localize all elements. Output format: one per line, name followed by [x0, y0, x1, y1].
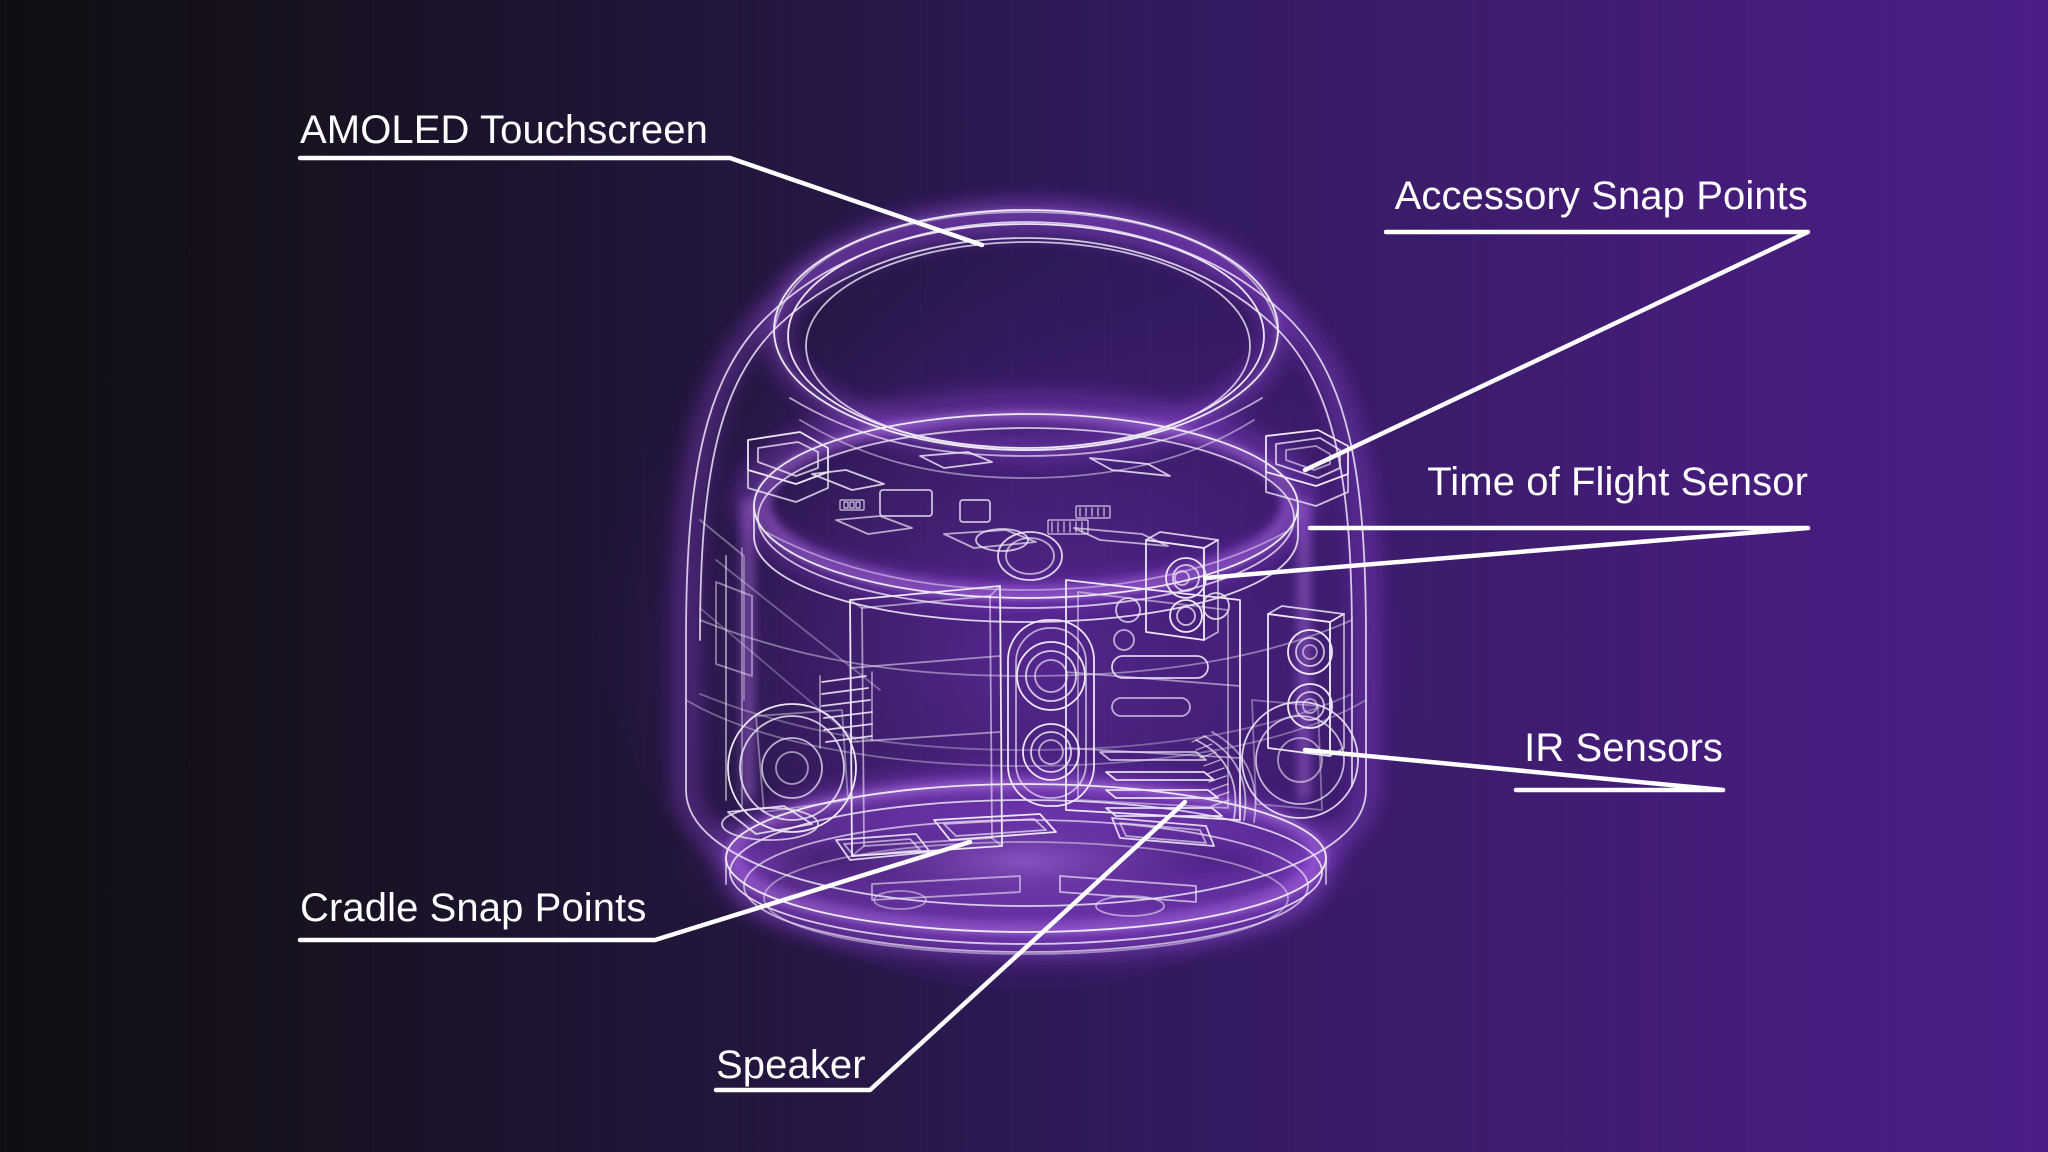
callout-label-speaker[interactable]: Speaker: [716, 1045, 866, 1085]
callout-label-cradle-snap-points[interactable]: Cradle Snap Points: [300, 888, 646, 928]
callout-label-ir-sensors[interactable]: IR Sensors: [1524, 728, 1723, 768]
diagram-canvas: AMOLED Touchscreen Accessory Snap Points…: [0, 0, 2048, 1152]
callout-label-layer: AMOLED Touchscreen Accessory Snap Points…: [0, 0, 2048, 1152]
callout-label-amoled-touchscreen[interactable]: AMOLED Touchscreen: [300, 110, 708, 150]
callout-label-time-of-flight-sensor[interactable]: Time of Flight Sensor: [1427, 462, 1808, 502]
callout-label-accessory-snap-points[interactable]: Accessory Snap Points: [1395, 176, 1808, 216]
